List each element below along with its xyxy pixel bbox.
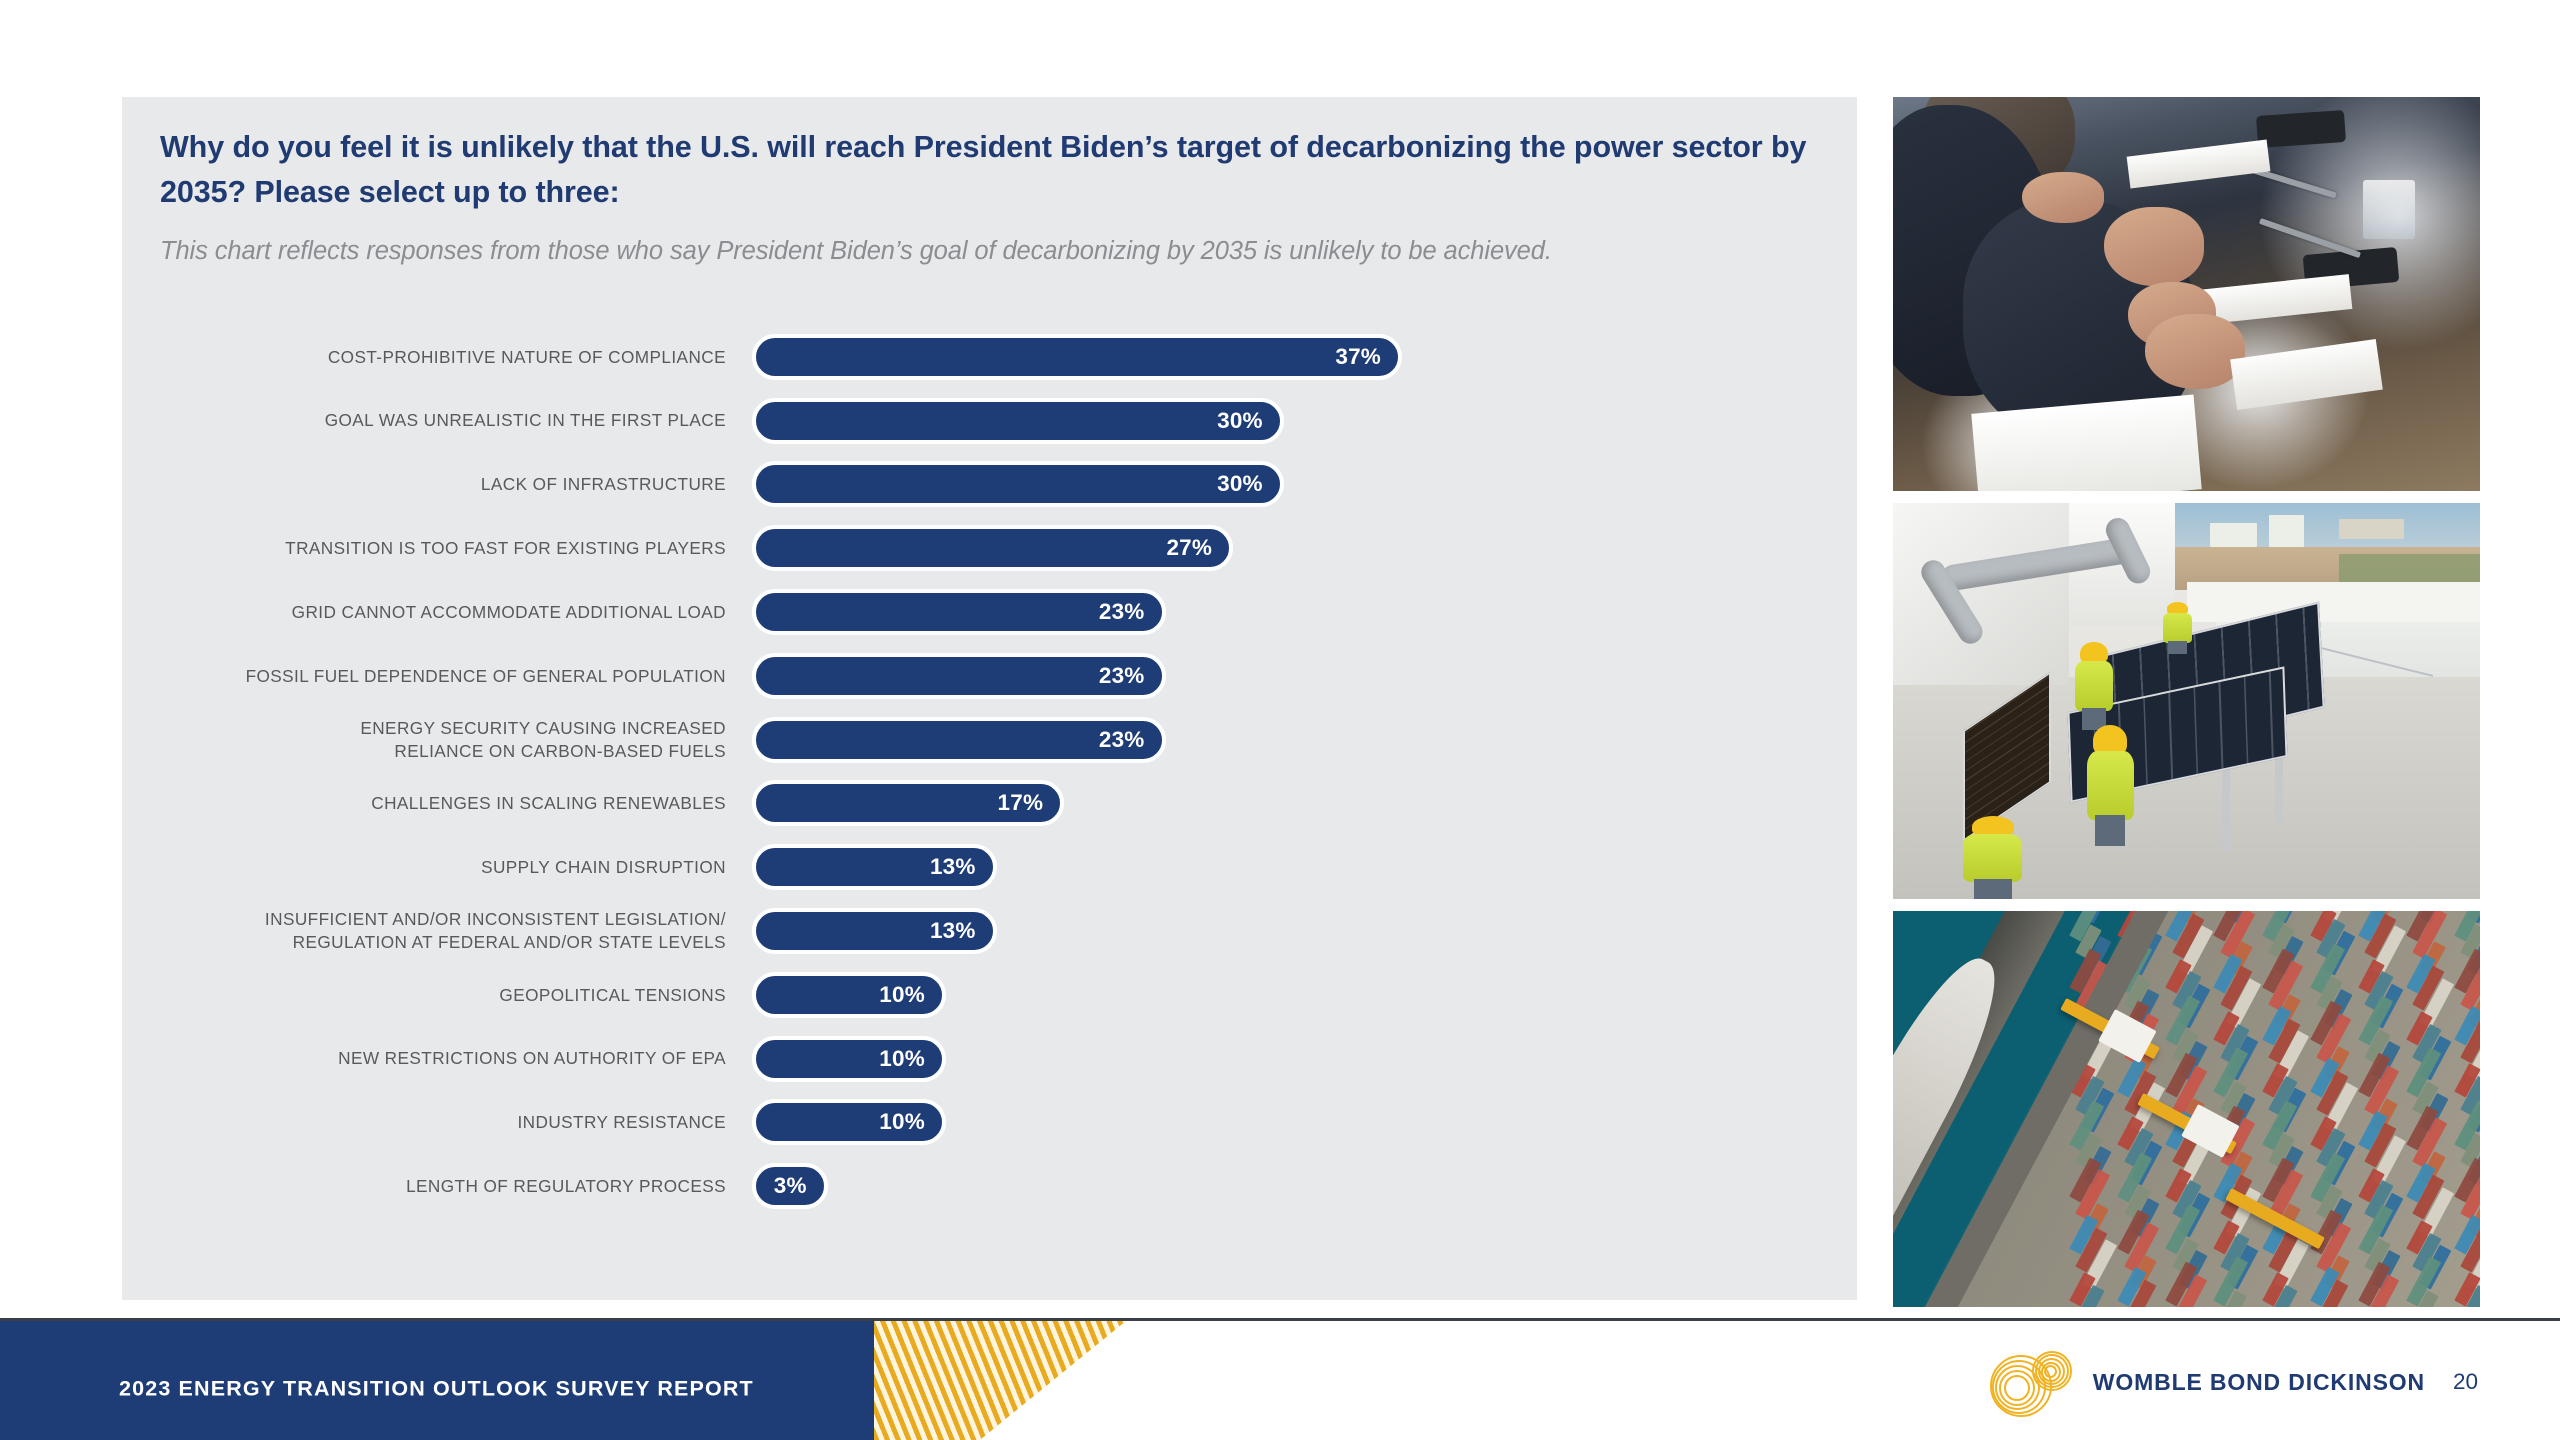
container-port-photo bbox=[1893, 911, 2480, 1307]
bar-value-label: 13% bbox=[930, 918, 976, 944]
photo-shape bbox=[2163, 602, 2192, 653]
bar-track: 23% bbox=[752, 580, 1857, 644]
bar-category-label: GOAL WAS UNREALISTIC IN THE FIRST PLACE bbox=[122, 409, 752, 432]
photo-shape bbox=[2022, 172, 2104, 223]
bar-value-label: 23% bbox=[1099, 727, 1145, 753]
bar-value-label: 3% bbox=[774, 1173, 807, 1199]
chart-row: GRID CANNOT ACCOMMODATE ADDITIONAL LOAD2… bbox=[122, 580, 1857, 644]
photo-shape bbox=[2256, 110, 2346, 148]
bar-track: 23% bbox=[752, 708, 1857, 772]
photo-shape bbox=[2104, 207, 2204, 286]
bar: 10% bbox=[752, 972, 946, 1018]
bar: 30% bbox=[752, 398, 1284, 444]
womble-rings-logo-icon bbox=[1998, 1351, 2076, 1413]
bar: 23% bbox=[752, 717, 1166, 763]
bar: 30% bbox=[752, 461, 1284, 507]
bar-track: 30% bbox=[752, 389, 1857, 453]
photo-shape bbox=[2363, 180, 2416, 239]
chart-row: COST-PROHIBITIVE NATURE OF COMPLIANCE37% bbox=[122, 325, 1857, 389]
bar-track: 10% bbox=[752, 963, 1857, 1027]
photo-shape bbox=[2269, 515, 2304, 547]
bar-category-label: NEW RESTRICTIONS ON AUTHORITY OF EPA bbox=[122, 1047, 752, 1070]
bar-category-label: GRID CANNOT ACCOMMODATE ADDITIONAL LOAD bbox=[122, 601, 752, 624]
bar-track: 10% bbox=[752, 1091, 1857, 1155]
bar-value-label: 10% bbox=[879, 1046, 925, 1072]
chart-row: GOAL WAS UNREALISTIC IN THE FIRST PLACE3… bbox=[122, 389, 1857, 453]
bar-track: 37% bbox=[752, 325, 1857, 389]
bar-category-label: COST-PROHIBITIVE NATURE OF COMPLIANCE bbox=[122, 346, 752, 369]
photo-shape bbox=[2075, 642, 2113, 729]
chart-row: ENERGY SECURITY CAUSING INCREASED RELIAN… bbox=[122, 708, 1857, 772]
bar: 10% bbox=[752, 1036, 946, 1082]
bar-value-label: 30% bbox=[1217, 408, 1263, 434]
rooftop-solar-photo bbox=[1893, 503, 2480, 899]
bar-category-label: TRANSITION IS TOO FAST FOR EXISTING PLAY… bbox=[122, 537, 752, 560]
slide-content-panel: Why do you feel it is unlikely that the … bbox=[122, 97, 1857, 1300]
bar-value-label: 27% bbox=[1166, 535, 1212, 561]
bar-value-label: 37% bbox=[1335, 344, 1381, 370]
page-subtitle: This chart reflects responses from those… bbox=[160, 233, 1760, 269]
bar-value-label: 13% bbox=[930, 854, 976, 880]
bar: 13% bbox=[752, 844, 997, 890]
brand-name: WOMBLE BOND DICKINSON bbox=[2093, 1369, 2425, 1396]
bar-track: 17% bbox=[752, 772, 1857, 836]
chart-row: TRANSITION IS TOO FAST FOR EXISTING PLAY… bbox=[122, 516, 1857, 580]
photo-shape bbox=[2087, 725, 2134, 844]
bar: 13% bbox=[752, 908, 997, 954]
bar-track: 13% bbox=[752, 835, 1857, 899]
bar: 3% bbox=[752, 1163, 828, 1209]
chart-row: LACK OF INFRASTRUCTURE30% bbox=[122, 453, 1857, 517]
bar: 37% bbox=[752, 334, 1402, 380]
bar-track: 30% bbox=[752, 453, 1857, 517]
photo-shape bbox=[2145, 314, 2245, 389]
bar-value-label: 17% bbox=[998, 790, 1044, 816]
photo-shape bbox=[2339, 519, 2404, 539]
bar-value-label: 10% bbox=[879, 982, 925, 1008]
bar-category-label: SUPPLY CHAIN DISRUPTION bbox=[122, 856, 752, 879]
logo-ring bbox=[2032, 1351, 2072, 1391]
bar-value-label: 23% bbox=[1099, 663, 1145, 689]
photo-shape bbox=[2231, 339, 2383, 410]
chart-row: CHALLENGES IN SCALING RENEWABLES17% bbox=[122, 772, 1857, 836]
bar: 23% bbox=[752, 589, 1166, 635]
page-number: 20 bbox=[2453, 1369, 2478, 1395]
bar-category-label: ENERGY SECURITY CAUSING INCREASED RELIAN… bbox=[122, 717, 752, 762]
bar-category-label: INSUFFICIENT AND/OR INCONSISTENT LEGISLA… bbox=[122, 908, 752, 953]
bar-value-label: 10% bbox=[879, 1109, 925, 1135]
bar-category-label: FOSSIL FUEL DEPENDENCE OF GENERAL POPULA… bbox=[122, 665, 752, 688]
bar-track: 27% bbox=[752, 516, 1857, 580]
bar-category-label: LENGTH OF REGULATORY PROCESS bbox=[122, 1175, 752, 1198]
boardroom-meeting-photo bbox=[1893, 97, 2480, 491]
bar-track: 10% bbox=[752, 1027, 1857, 1091]
bar: 17% bbox=[752, 780, 1064, 826]
footer-brand: WOMBLE BOND DICKINSON 20 bbox=[1998, 1351, 2478, 1413]
bar-value-label: 23% bbox=[1099, 599, 1145, 625]
chart-row: INSUFFICIENT AND/OR INCONSISTENT LEGISLA… bbox=[122, 899, 1857, 963]
photo-column bbox=[1893, 97, 2480, 1307]
photo-shape bbox=[2210, 523, 2257, 547]
bar: 27% bbox=[752, 525, 1233, 571]
bar-category-label: CHALLENGES IN SCALING RENEWABLES bbox=[122, 792, 752, 815]
horizontal-bar-chart: COST-PROHIBITIVE NATURE OF COMPLIANCE37%… bbox=[122, 325, 1857, 1218]
bar: 23% bbox=[752, 653, 1166, 699]
photo-shape bbox=[2259, 218, 2361, 258]
chart-row: FOSSIL FUEL DEPENDENCE OF GENERAL POPULA… bbox=[122, 644, 1857, 708]
bar-track: 13% bbox=[752, 899, 1857, 963]
page-title: Why do you feel it is unlikely that the … bbox=[160, 125, 1820, 215]
bar-category-label: GEOPOLITICAL TENSIONS bbox=[122, 984, 752, 1007]
footer-report-label: 2023 ENERGY TRANSITION OUTLOOK SURVEY RE… bbox=[119, 1377, 754, 1402]
photo-shape bbox=[1893, 503, 2069, 685]
bar-value-label: 30% bbox=[1217, 471, 1263, 497]
photo-shape bbox=[2187, 582, 2481, 622]
chart-row: NEW RESTRICTIONS ON AUTHORITY OF EPA10% bbox=[122, 1027, 1857, 1091]
bar-category-label: LACK OF INFRASTRUCTURE bbox=[122, 473, 752, 496]
chart-row: LENGTH OF REGULATORY PROCESS3% bbox=[122, 1154, 1857, 1218]
bar-track: 23% bbox=[752, 644, 1857, 708]
photo-shape bbox=[1963, 816, 2022, 899]
bar-category-label: INDUSTRY RESISTANCE bbox=[122, 1111, 752, 1134]
chart-row: INDUSTRY RESISTANCE10% bbox=[122, 1091, 1857, 1155]
chart-row: GEOPOLITICAL TENSIONS10% bbox=[122, 963, 1857, 1027]
photo-shape bbox=[2126, 140, 2270, 188]
bar: 10% bbox=[752, 1099, 946, 1145]
bar-track: 3% bbox=[752, 1154, 1857, 1218]
footer-diagonal-stripes bbox=[874, 1321, 1126, 1440]
chart-row: SUPPLY CHAIN DISRUPTION13% bbox=[122, 835, 1857, 899]
